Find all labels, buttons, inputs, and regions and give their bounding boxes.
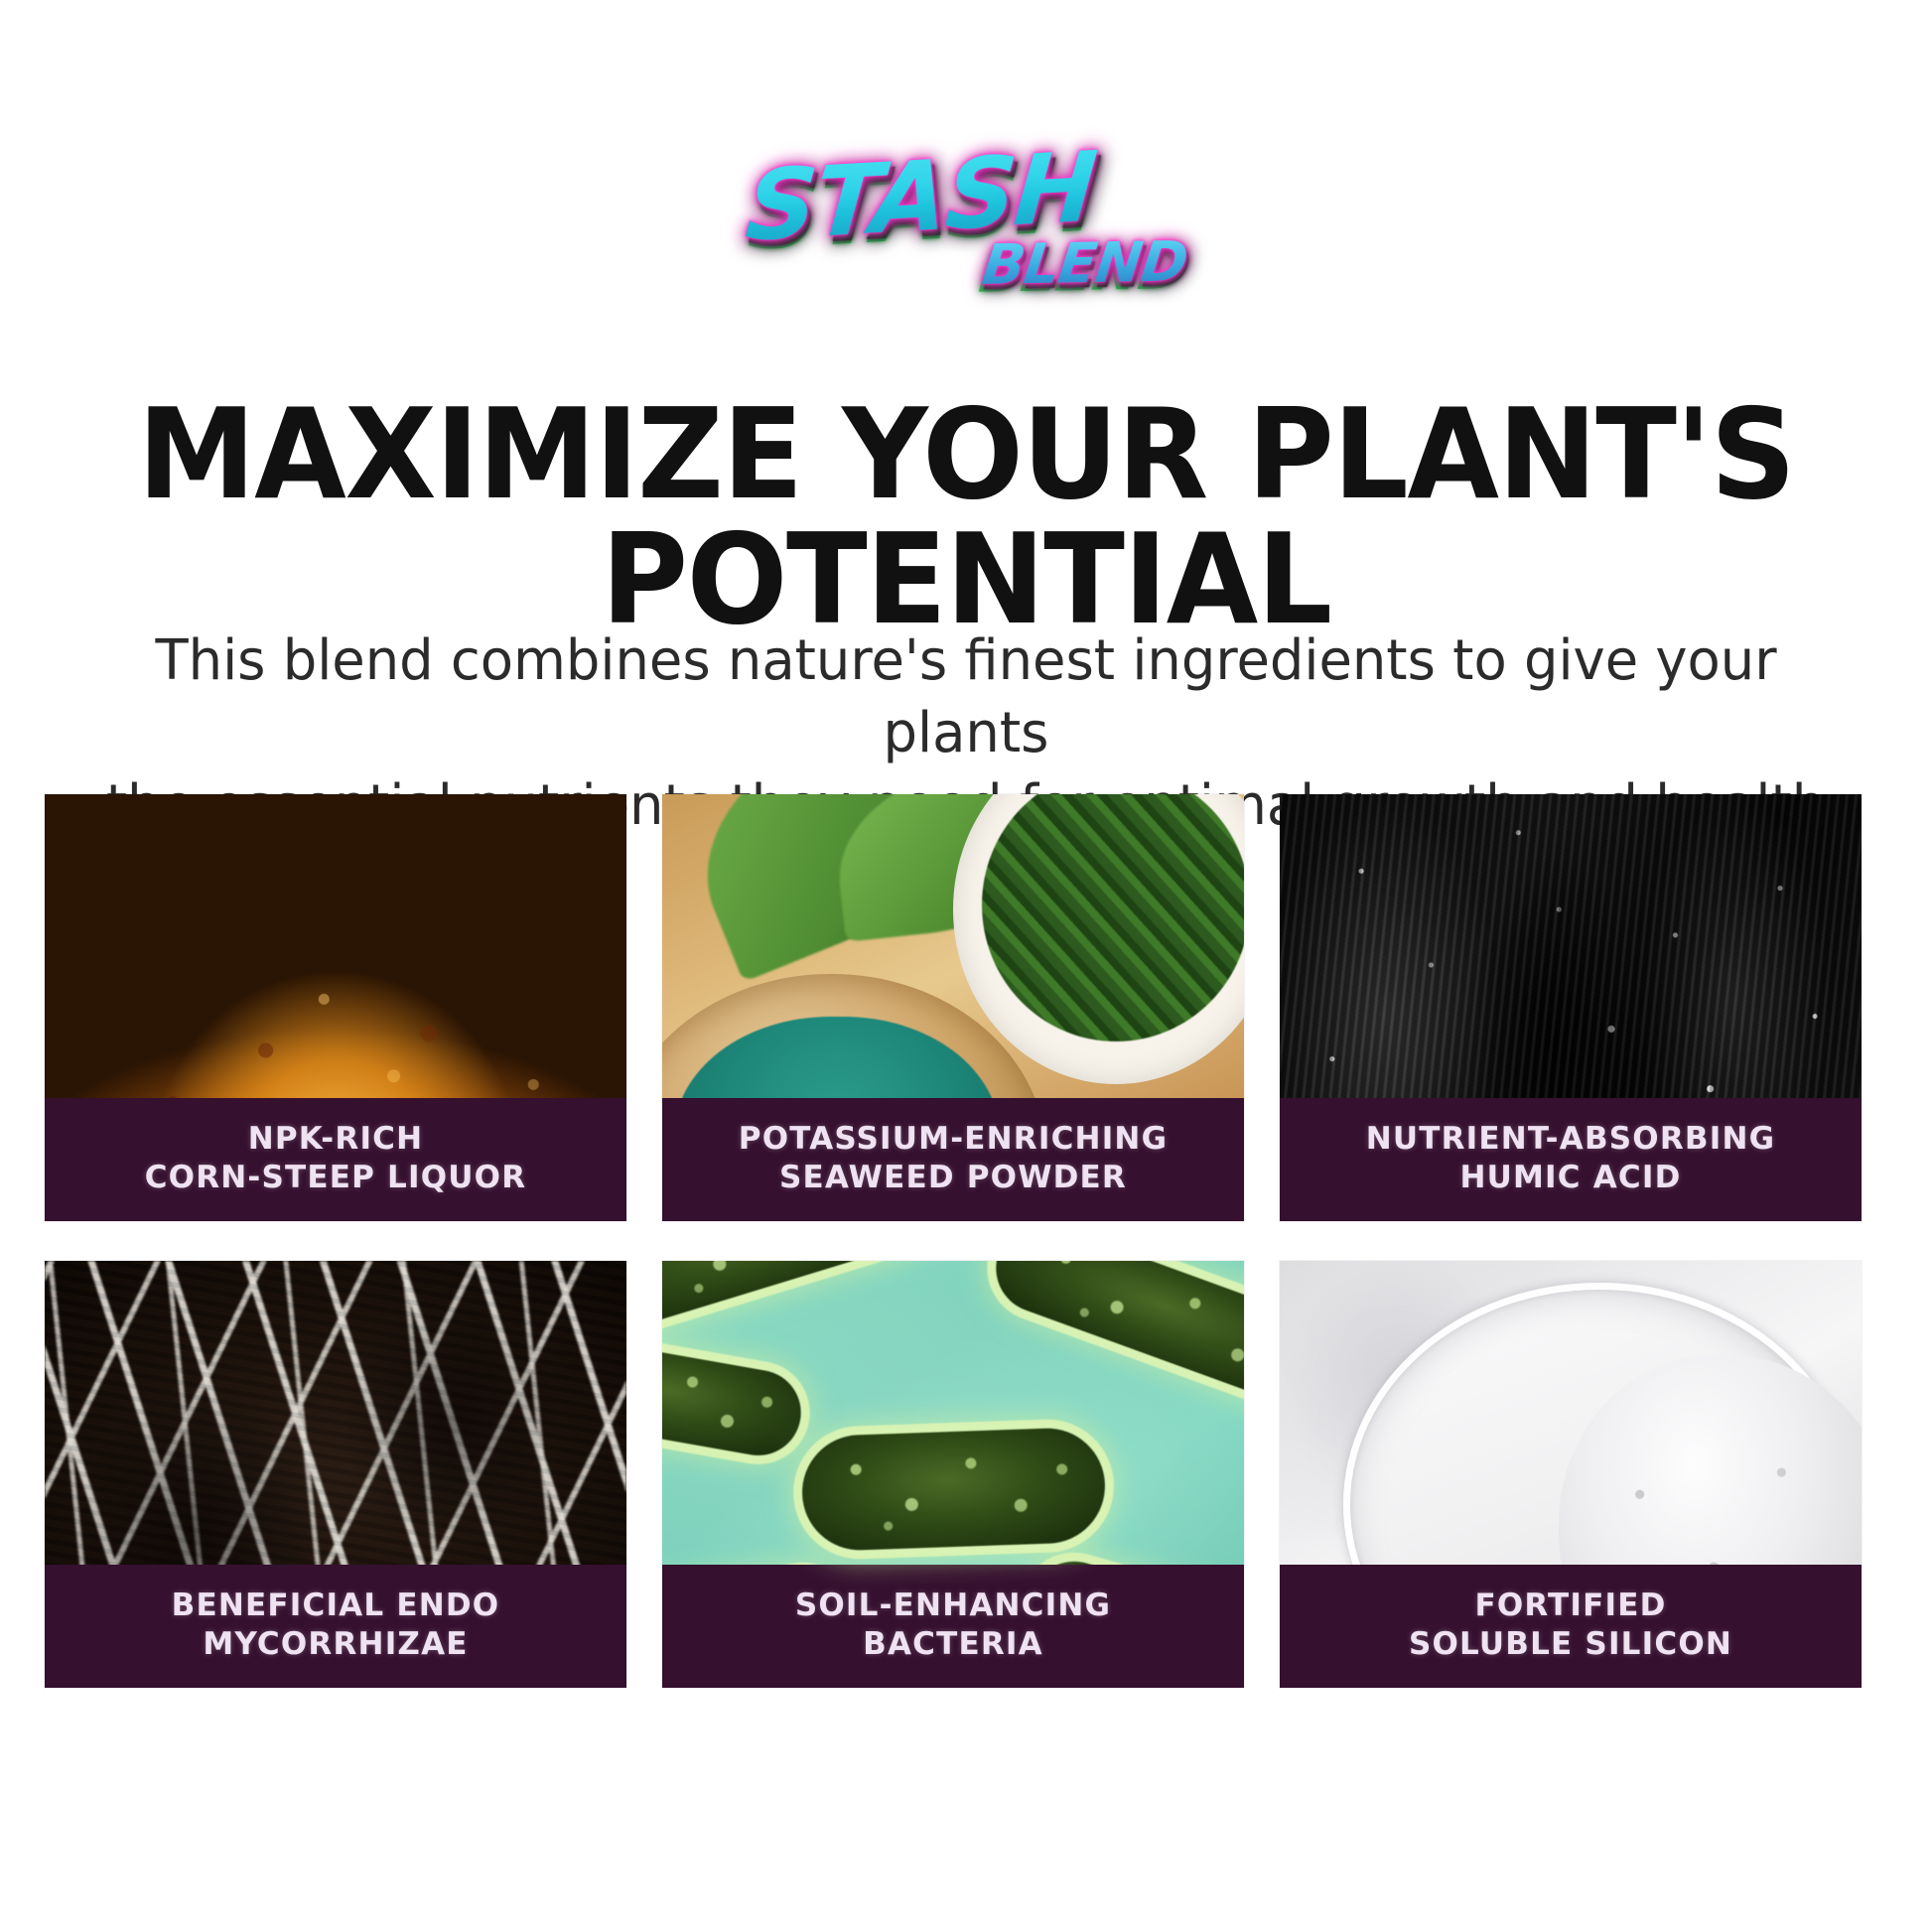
logo-stack: STASH STASH BLEND BLEND — [758, 149, 1174, 313]
ingredient-label: NPK-RICH CORN-STEEP LIQUOR — [45, 1098, 626, 1221]
ingredient-label-line-2: CORN-STEEP LIQUOR — [59, 1159, 613, 1197]
ingredient-card[interactable]: POTASSIUM-ENRICHING SEAWEED POWDER — [662, 794, 1244, 1221]
ingredient-label: BENEFICIAL ENDO MYCORRHIZAE — [45, 1565, 626, 1688]
ingredient-label: FORTIFIED SOLUBLE SILICON — [1280, 1565, 1862, 1688]
page-title: MAXIMIZE YOUR PLANT'S POTENTIAL — [49, 392, 1884, 642]
brand-logo: STASH STASH BLEND BLEND — [0, 149, 1932, 313]
ingredient-card[interactable]: FORTIFIED SOLUBLE SILICON — [1280, 1261, 1862, 1688]
ingredient-label-line-2: SEAWEED POWDER — [676, 1159, 1230, 1197]
ingredient-label-line-1: NPK-RICH — [59, 1120, 613, 1159]
ingredient-label: SOIL-ENHANCING BACTERIA — [662, 1565, 1244, 1688]
bacteria-rod-center — [800, 1427, 1107, 1553]
ingredient-label-line-1: FORTIFIED — [1294, 1587, 1848, 1625]
logo-wordmark-blend: BLEND — [979, 234, 1189, 294]
ingredient-label-line-1: BENEFICIAL ENDO — [59, 1587, 613, 1625]
ingredient-label: NUTRIENT-ABSORBING HUMIC ACID — [1280, 1098, 1862, 1221]
ingredient-label-line-2: SOLUBLE SILICON — [1294, 1625, 1848, 1664]
ingredient-card[interactable]: NUTRIENT-ABSORBING HUMIC ACID — [1280, 794, 1862, 1221]
subtitle-line-1: This blend combines nature's finest ingr… — [96, 625, 1836, 770]
ingredient-label-line-2: HUMIC ACID — [1294, 1159, 1848, 1197]
ingredient-label-line-1: POTASSIUM-ENRICHING — [676, 1120, 1230, 1159]
ingredient-card[interactable]: SOIL-ENHANCING BACTERIA — [662, 1261, 1244, 1688]
ingredient-grid: NPK-RICH CORN-STEEP LIQUOR POTASSIUM-ENR… — [45, 794, 1862, 1688]
ingredient-card[interactable]: NPK-RICH CORN-STEEP LIQUOR — [45, 794, 626, 1221]
ingredient-label-line-1: SOIL-ENHANCING — [676, 1587, 1230, 1625]
headline-line-2: POTENTIAL — [49, 517, 1884, 642]
ingredient-label-line-2: BACTERIA — [676, 1625, 1230, 1664]
ingredient-label: POTASSIUM-ENRICHING SEAWEED POWDER — [662, 1098, 1244, 1221]
headline-line-1: MAXIMIZE YOUR PLANT'S — [137, 381, 1794, 527]
ingredient-card[interactable]: BENEFICIAL ENDO MYCORRHIZAE — [45, 1261, 626, 1688]
ingredient-label-line-2: MYCORRHIZAE — [59, 1625, 613, 1664]
ingredient-label-line-1: NUTRIENT-ABSORBING — [1294, 1120, 1848, 1159]
